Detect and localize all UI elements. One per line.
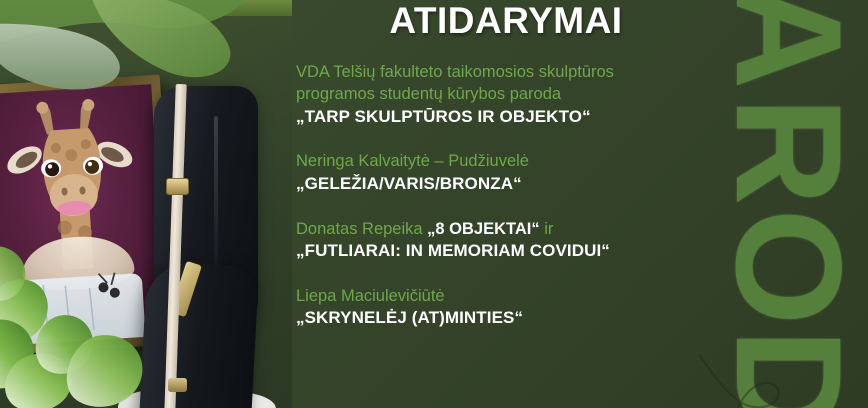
exhibition-entry-3: Donatas Repeika „8 OBJEKTAI“ ir „FUTLIAR… bbox=[296, 218, 716, 263]
entry-4-author: Liepa Maciulevičiūtė bbox=[296, 285, 716, 307]
entry-1-description-line2: programos studentų kūrybos paroda bbox=[296, 83, 716, 105]
page-title: ATIDARYMAI bbox=[296, 0, 716, 39]
vertical-letter-r: R bbox=[731, 75, 847, 225]
vertical-letter-a: A bbox=[731, 0, 847, 109]
painting-dress-details-icon bbox=[2, 266, 136, 346]
exhibition-poster: A R O D bbox=[0, 0, 868, 408]
vertical-word-parodos: A R O D bbox=[704, 0, 868, 408]
entry-2-author: Neringa Kalvaitytė – Pudžiuvelė bbox=[296, 150, 716, 172]
case-strap-buckle-top bbox=[166, 178, 189, 195]
entry-3-author-line: Donatas Repeika „8 OBJEKTAI“ ir bbox=[296, 218, 716, 240]
exhibition-list: VDA Telšių fakulteto taikomosios skulptū… bbox=[296, 61, 716, 330]
case-seam-highlight bbox=[214, 116, 218, 266]
instrument-case bbox=[148, 86, 260, 386]
entry-1-title: „TARP SKULPTŪROS IR OBJEKTO“ bbox=[296, 106, 716, 129]
exhibition-photo bbox=[0, 0, 292, 408]
entry-3-inline-title: „8 OBJEKTAI“ bbox=[427, 220, 539, 238]
entry-4-title: „SKRYNELĖJ (AT)MINTIES“ bbox=[296, 307, 716, 330]
entry-3-title: „FUTLIARAI: IN MEMORIAM COVIDUI“ bbox=[296, 240, 716, 263]
entry-3-author-suffix: ir bbox=[540, 220, 554, 238]
exhibition-entry-4: Liepa Maciulevičiūtė „SKRYNELĖJ (AT)MINT… bbox=[296, 285, 716, 330]
exhibition-entry-1: VDA Telšių fakulteto taikomosios skulptū… bbox=[296, 61, 716, 128]
painting-canvas bbox=[0, 84, 167, 346]
vertical-letter-o: O bbox=[731, 191, 847, 341]
entry-3-author-prefix: Donatas Repeika bbox=[296, 220, 427, 238]
exhibition-entry-2: Neringa Kalvaitytė – Pudžiuvelė „GELEŽIA… bbox=[296, 150, 716, 195]
case-strap-buckle-bottom bbox=[168, 378, 187, 392]
entry-2-title: „GELEŽIA/VARIS/BRONZA“ bbox=[296, 173, 716, 196]
poster-text-column: ATIDARYMAI VDA Telšių fakulteto taikomos… bbox=[296, 0, 716, 408]
entry-1-description-line1: VDA Telšių fakulteto taikomosios skulptū… bbox=[296, 61, 716, 83]
photo-top-grass-strip bbox=[0, 0, 292, 16]
case-lower-bell bbox=[137, 261, 259, 408]
